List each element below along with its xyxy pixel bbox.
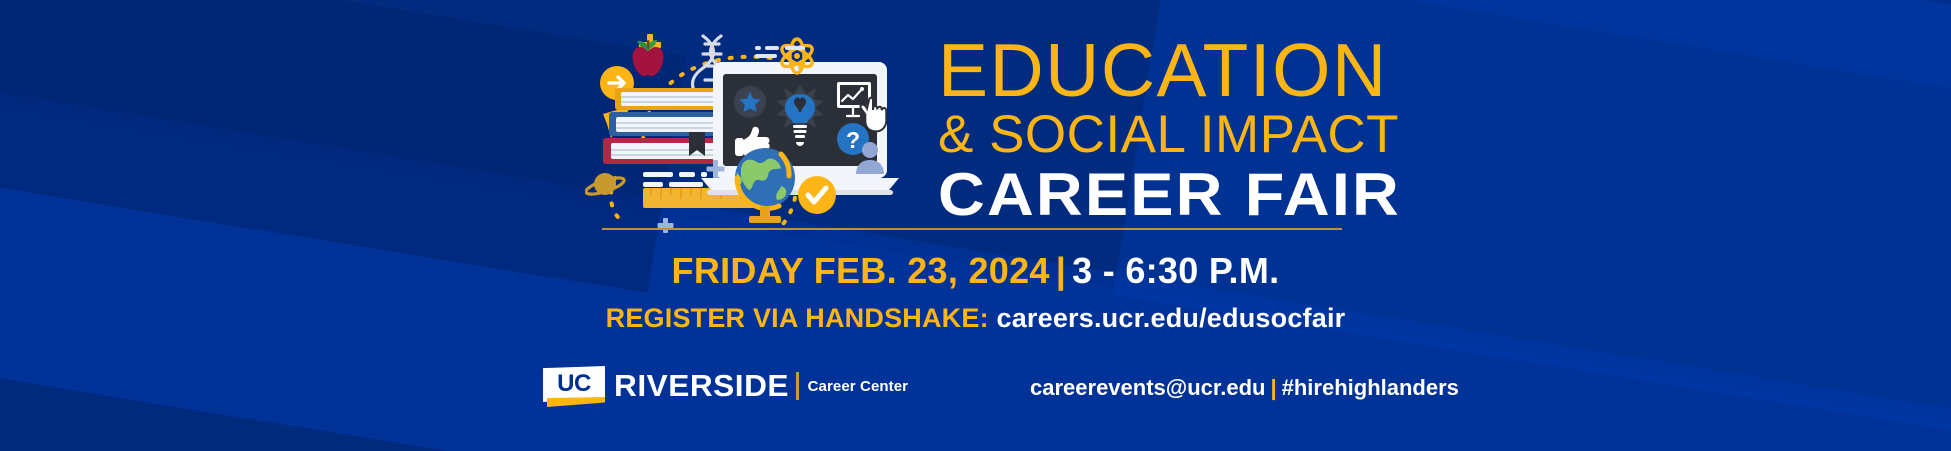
register-label: REGISTER VIA HANDSHAKE: [606,303,989,333]
uc-logo-mark: UC [543,366,605,406]
gold-divider-rule [602,228,1342,230]
contact-hashtag: #hirehighlanders [1282,375,1459,400]
ucr-career-center-logo: UC RIVERSIDE Career Center [543,365,908,407]
event-date: FRIDAY FEB. 23, 2024 [672,250,1050,291]
career-center-label: Career Center [808,378,909,395]
headline-social-impact: & SOCIAL IMPACT [938,106,1558,163]
headline-education: EDUCATION [938,40,1558,102]
headline-block: EDUCATION & SOCIAL IMPACT CAREER FAIR [938,40,1558,225]
contact-separator: | [1265,375,1281,400]
education-illustration: ? [585,28,915,228]
book-stack [603,88,731,164]
plus-icon [658,218,674,233]
riverside-wordmark: RIVERSIDE [614,368,789,404]
saturn-icon [585,173,626,197]
contact-line: careerevents@ucr.edu|#hirehighlanders [1030,375,1459,401]
register-url[interactable]: careers.ucr.edu/edusocfair [996,303,1345,333]
register-line: REGISTER VIA HANDSHAKE: careers.ucr.edu/… [0,303,1951,334]
logo-divider [796,372,799,400]
headline-career-fair: CAREER FAIR [938,165,1608,225]
event-date-line: FRIDAY FEB. 23, 2024|3 - 6:30 P.M. [0,250,1951,292]
check-circle-icon [798,176,836,214]
laptop-screen-star-icon [734,86,766,118]
date-time-separator: | [1050,250,1072,291]
career-fair-banner: ? [0,0,1951,451]
globe-icon [735,148,795,223]
uc-logo-gold-edge [547,397,605,407]
uc-logo-text: UC [543,366,605,402]
event-time: 3 - 6:30 P.M. [1072,250,1279,291]
contact-email[interactable]: careerevents@ucr.edu [1030,375,1265,400]
svg-text:?: ? [846,127,860,153]
